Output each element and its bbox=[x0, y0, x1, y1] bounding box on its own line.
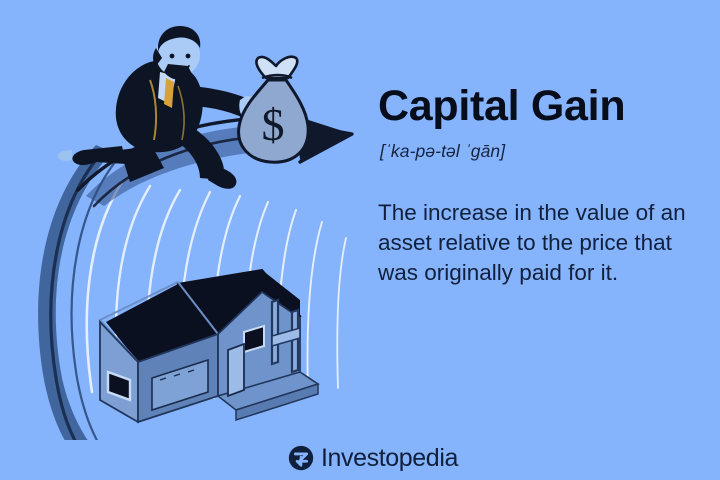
definition-text: The increase in the value of an asset re… bbox=[378, 198, 694, 288]
definition-panel: Capital Gain [ˈka-pə-təl ˈgān] The incre… bbox=[378, 84, 694, 287]
infographic-canvas: $ bbox=[0, 0, 720, 480]
house bbox=[100, 270, 318, 422]
investopedia-logo: Investopedia bbox=[288, 445, 458, 471]
page-title: Capital Gain bbox=[378, 84, 694, 129]
pronunciation-text: [ˈka-pə-təl ˈgān] bbox=[380, 141, 694, 162]
brand-wordmark: Investopedia bbox=[321, 446, 458, 471]
capital-gain-illustration: $ bbox=[0, 0, 370, 440]
dollar-sign-glyph: $ bbox=[262, 99, 285, 150]
money-bag: $ bbox=[239, 57, 309, 162]
investopedia-mark-icon bbox=[288, 445, 314, 471]
